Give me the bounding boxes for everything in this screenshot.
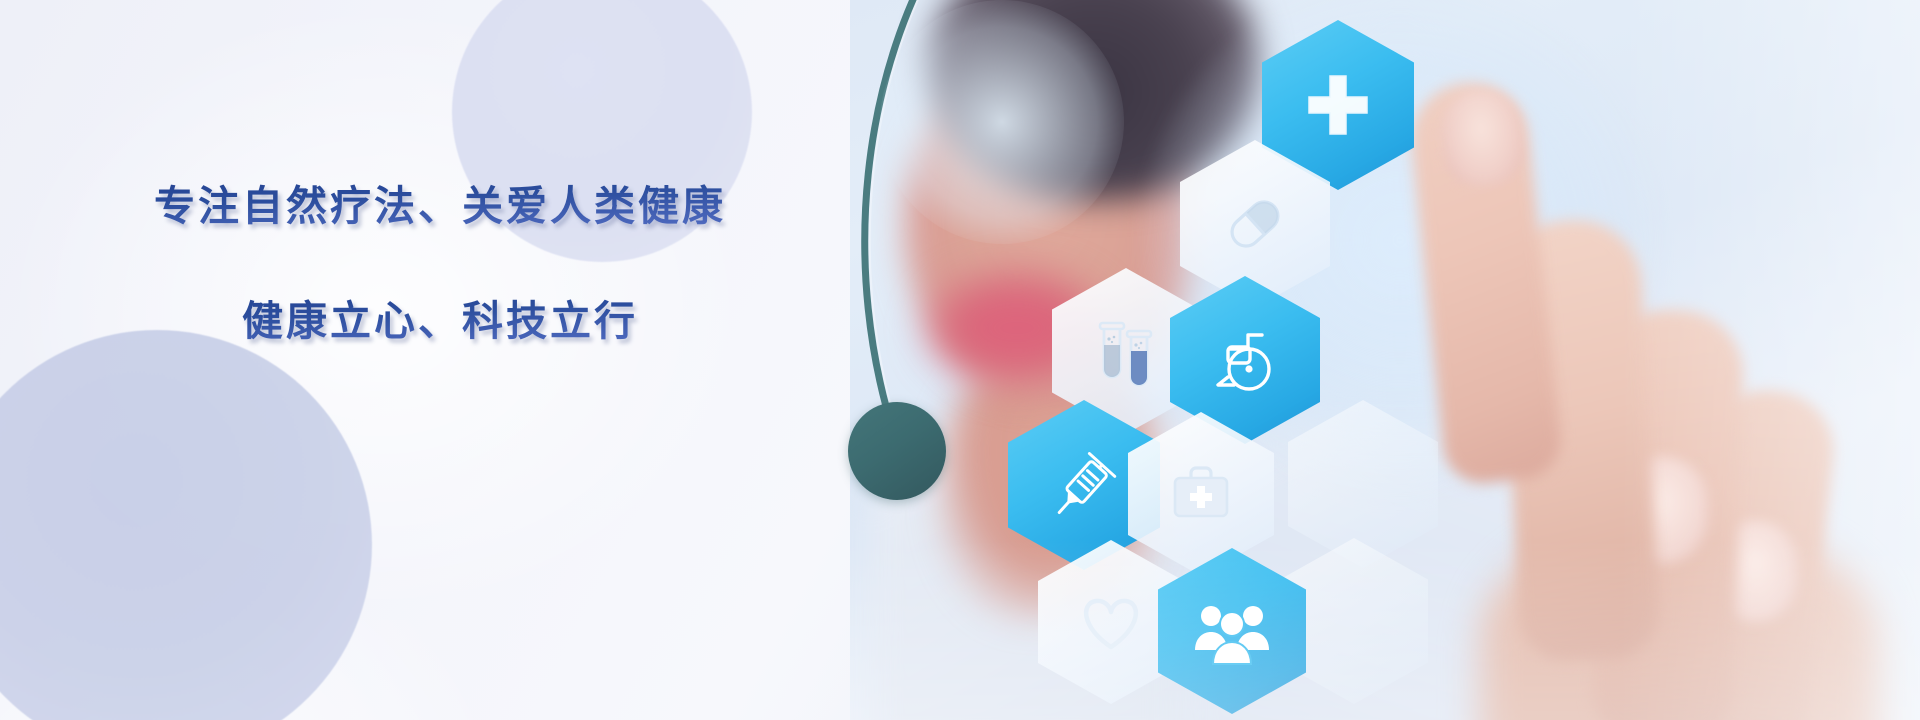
headline-block: 专注自然疗法、关爱人类健康 健康立心、科技立行: [0, 178, 880, 349]
bottom-edge-vignette: [850, 540, 1920, 720]
headline-line-1: 专注自然疗法、关爱人类健康: [0, 178, 880, 234]
cross-halo-glow: [880, 0, 1124, 244]
headline-line-2: 健康立心、科技立行: [0, 293, 880, 349]
healthcare-hero-banner: 专注自然疗法、关爱人类健康 健康立心、科技立行: [0, 0, 1920, 720]
